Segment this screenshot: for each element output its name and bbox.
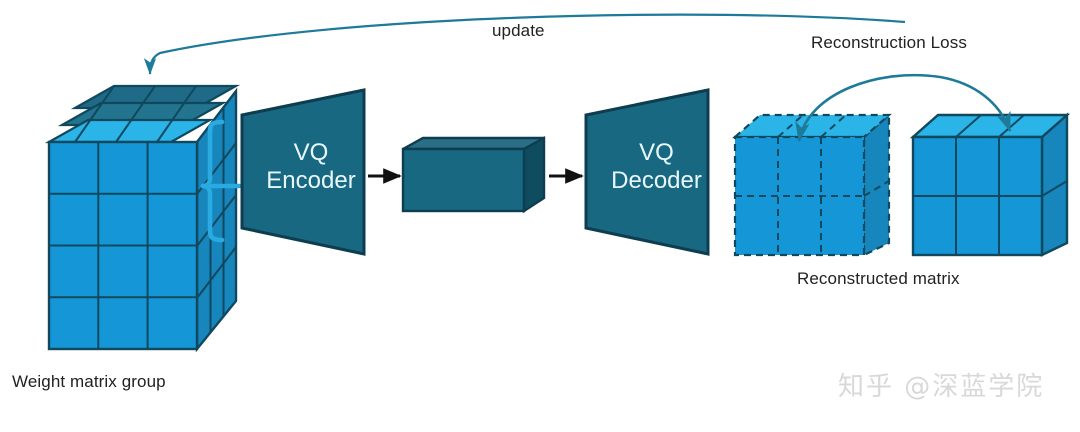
reconstruction-loss-label: Reconstruction Loss — [811, 33, 967, 53]
cube-side-face — [197, 91, 236, 349]
reconstructed-matrix-cube — [735, 115, 889, 255]
original-matrix-cube — [913, 115, 1067, 255]
watermark: 知乎 @深蓝学院 — [838, 366, 1044, 403]
diagram-canvas: VQ Encoder VQ Decoder update Reconstruct… — [0, 0, 1080, 432]
weight-matrix-group-label: Weight matrix group — [12, 372, 166, 392]
vq-encoder-block[interactable] — [242, 90, 364, 254]
latent-code-box — [403, 138, 544, 211]
update-label: update — [492, 21, 545, 41]
cube-front-face — [49, 142, 197, 349]
vq-decoder-block[interactable] — [586, 90, 708, 254]
reconstructed-matrix-label: Reconstructed matrix — [797, 269, 960, 289]
